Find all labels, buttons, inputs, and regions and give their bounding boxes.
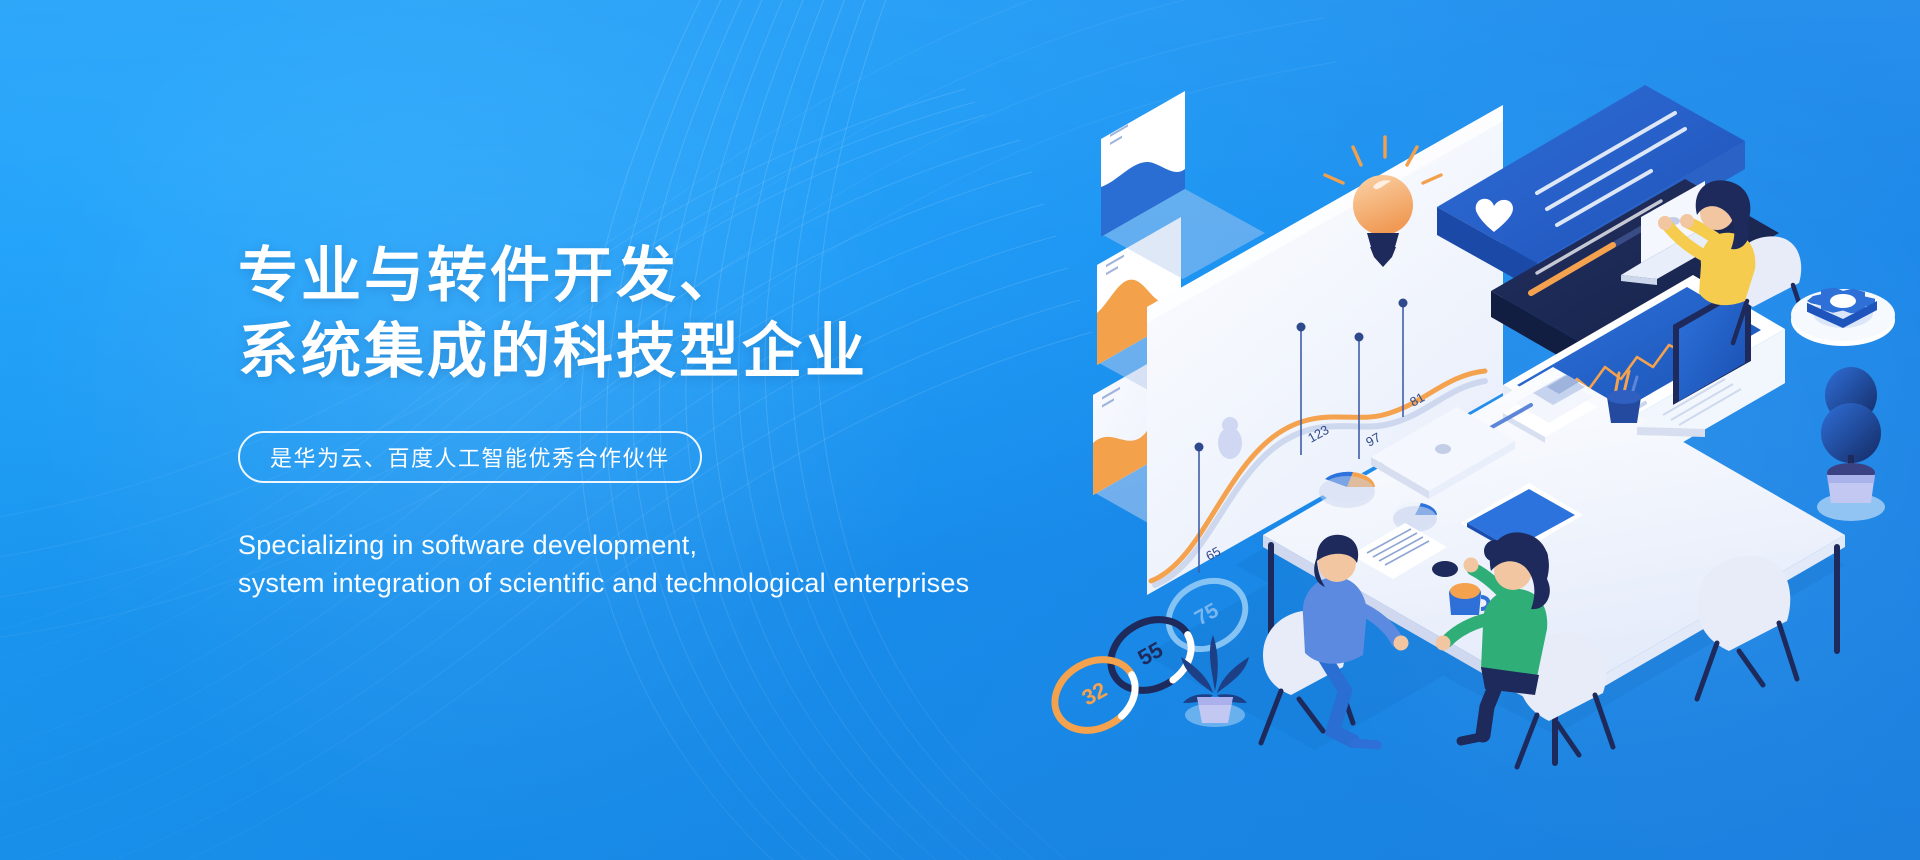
gear-icon: [1791, 288, 1895, 346]
partner-badge-label: 是华为云、百度人工智能优秀合作伙伴: [270, 441, 670, 473]
subtitle-line-1: Specializing in software development,: [238, 527, 1198, 565]
hero-banner: 专业与转件开发、 系统集成的科技型企业 是华为云、百度人工智能优秀合作伙伴 Sp…: [0, 0, 1920, 860]
pie-chart-large: [1319, 471, 1375, 508]
empty-chair: [1697, 556, 1797, 699]
plant-icon-topiary: [1817, 367, 1885, 521]
hero-illustration: 65 123 97 81: [1085, 95, 1920, 745]
gauge-label-55: 55: [1134, 637, 1168, 671]
hero-copy-block: 专业与转件开发、 系统集成的科技型企业 是华为云、百度人工智能优秀合作伙伴 Sp…: [238, 238, 1198, 603]
gauge-label-32: 32: [1078, 677, 1112, 711]
headline-line-2: 系统集成的科技型企业: [238, 314, 1198, 390]
hero-subtitle: Specializing in software development, sy…: [238, 527, 1198, 603]
partner-badge: 是华为云、百度人工智能优秀合作伙伴: [238, 431, 702, 483]
subtitle-line-2: system integration of scientific and tec…: [238, 565, 1198, 603]
gauge-32: 32: [1042, 646, 1147, 744]
headline-line-1: 专业与转件开发、: [238, 238, 1198, 314]
page-title: 专业与转件开发、 系统集成的科技型企业: [238, 238, 1198, 389]
disc-object: [1432, 561, 1458, 577]
gauge-55: 55: [1098, 606, 1203, 704]
